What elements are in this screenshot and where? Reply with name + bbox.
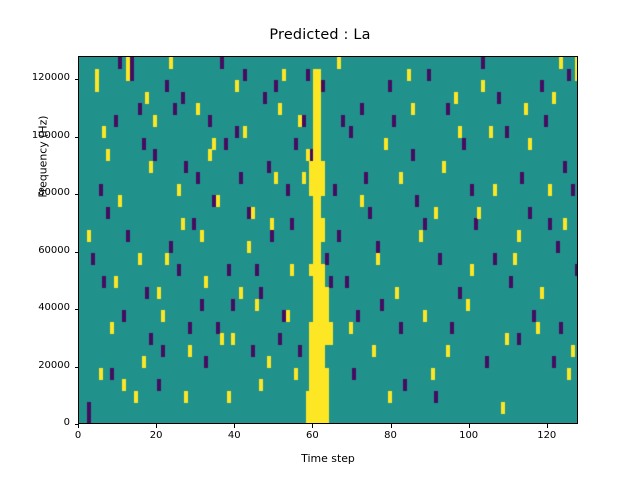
x-axis-label: Time step (78, 452, 578, 465)
matplotlib-figure: Predicted : La 0204060801001200200004000… (0, 0, 640, 480)
x-tick-label: 100 (439, 430, 499, 441)
y-tick-mark (75, 367, 79, 368)
x-tick-mark (469, 424, 470, 428)
x-tick-mark (312, 424, 313, 428)
x-tick-mark (547, 424, 548, 428)
x-tick-label: 20 (126, 430, 186, 441)
heatmap-image (79, 57, 578, 424)
y-tick-mark (75, 137, 79, 138)
x-tick-label: 120 (517, 430, 577, 441)
chart-title: Predicted : La (0, 27, 640, 43)
x-tick-label: 0 (48, 430, 108, 441)
x-tick-mark (78, 424, 79, 428)
x-tick-label: 60 (282, 430, 342, 441)
x-tick-mark (156, 424, 157, 428)
x-tick-label: 40 (204, 430, 264, 441)
y-tick-label: 20000 (6, 360, 70, 371)
x-tick-label: 80 (361, 430, 421, 441)
y-tick-mark (75, 194, 79, 195)
y-tick-mark (75, 424, 79, 425)
y-tick-mark (75, 309, 79, 310)
heatmap-axes (78, 56, 578, 424)
y-tick-label: 0 (6, 417, 70, 428)
x-tick-mark (391, 424, 392, 428)
y-tick-mark (75, 79, 79, 80)
y-tick-mark (75, 252, 79, 253)
y-tick-label: 40000 (6, 302, 70, 313)
x-tick-mark (234, 424, 235, 428)
y-axis-label: Frequency (Hz) (37, 32, 50, 282)
